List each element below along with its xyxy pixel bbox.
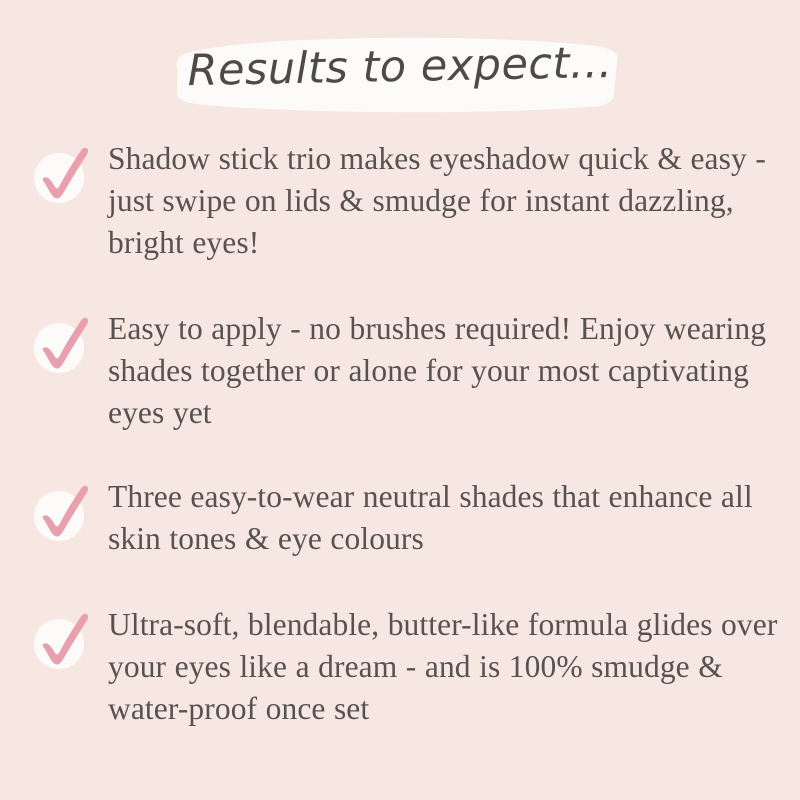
list-item-text: Three easy-to-wear neutral shades that e… (108, 476, 784, 560)
list-item: Shadow stick trio makes eyeshadow quick … (0, 138, 800, 264)
benefits-list: Shadow stick trio makes eyeshadow quick … (0, 138, 800, 730)
check-circle-icon (32, 316, 92, 374)
check-circle-icon (32, 484, 92, 542)
page-title: Results to expect... (0, 34, 800, 99)
list-item: Ultra-soft, blendable, butter-like formu… (0, 604, 800, 730)
list-item: Easy to apply - no brushes required! Enj… (0, 308, 800, 434)
list-item: Three easy-to-wear neutral shades that e… (0, 476, 800, 560)
list-item-text: Ultra-soft, blendable, butter-like formu… (108, 604, 784, 730)
list-item-text: Easy to apply - no brushes required! Enj… (108, 308, 784, 434)
check-circle-icon (32, 146, 92, 204)
results-to-expect-panel: Results to expect... Shadow stick trio m… (0, 0, 800, 800)
list-item-text: Shadow stick trio makes eyeshadow quick … (108, 138, 784, 264)
page-header: Results to expect... (0, 28, 800, 128)
check-circle-icon (32, 612, 92, 670)
